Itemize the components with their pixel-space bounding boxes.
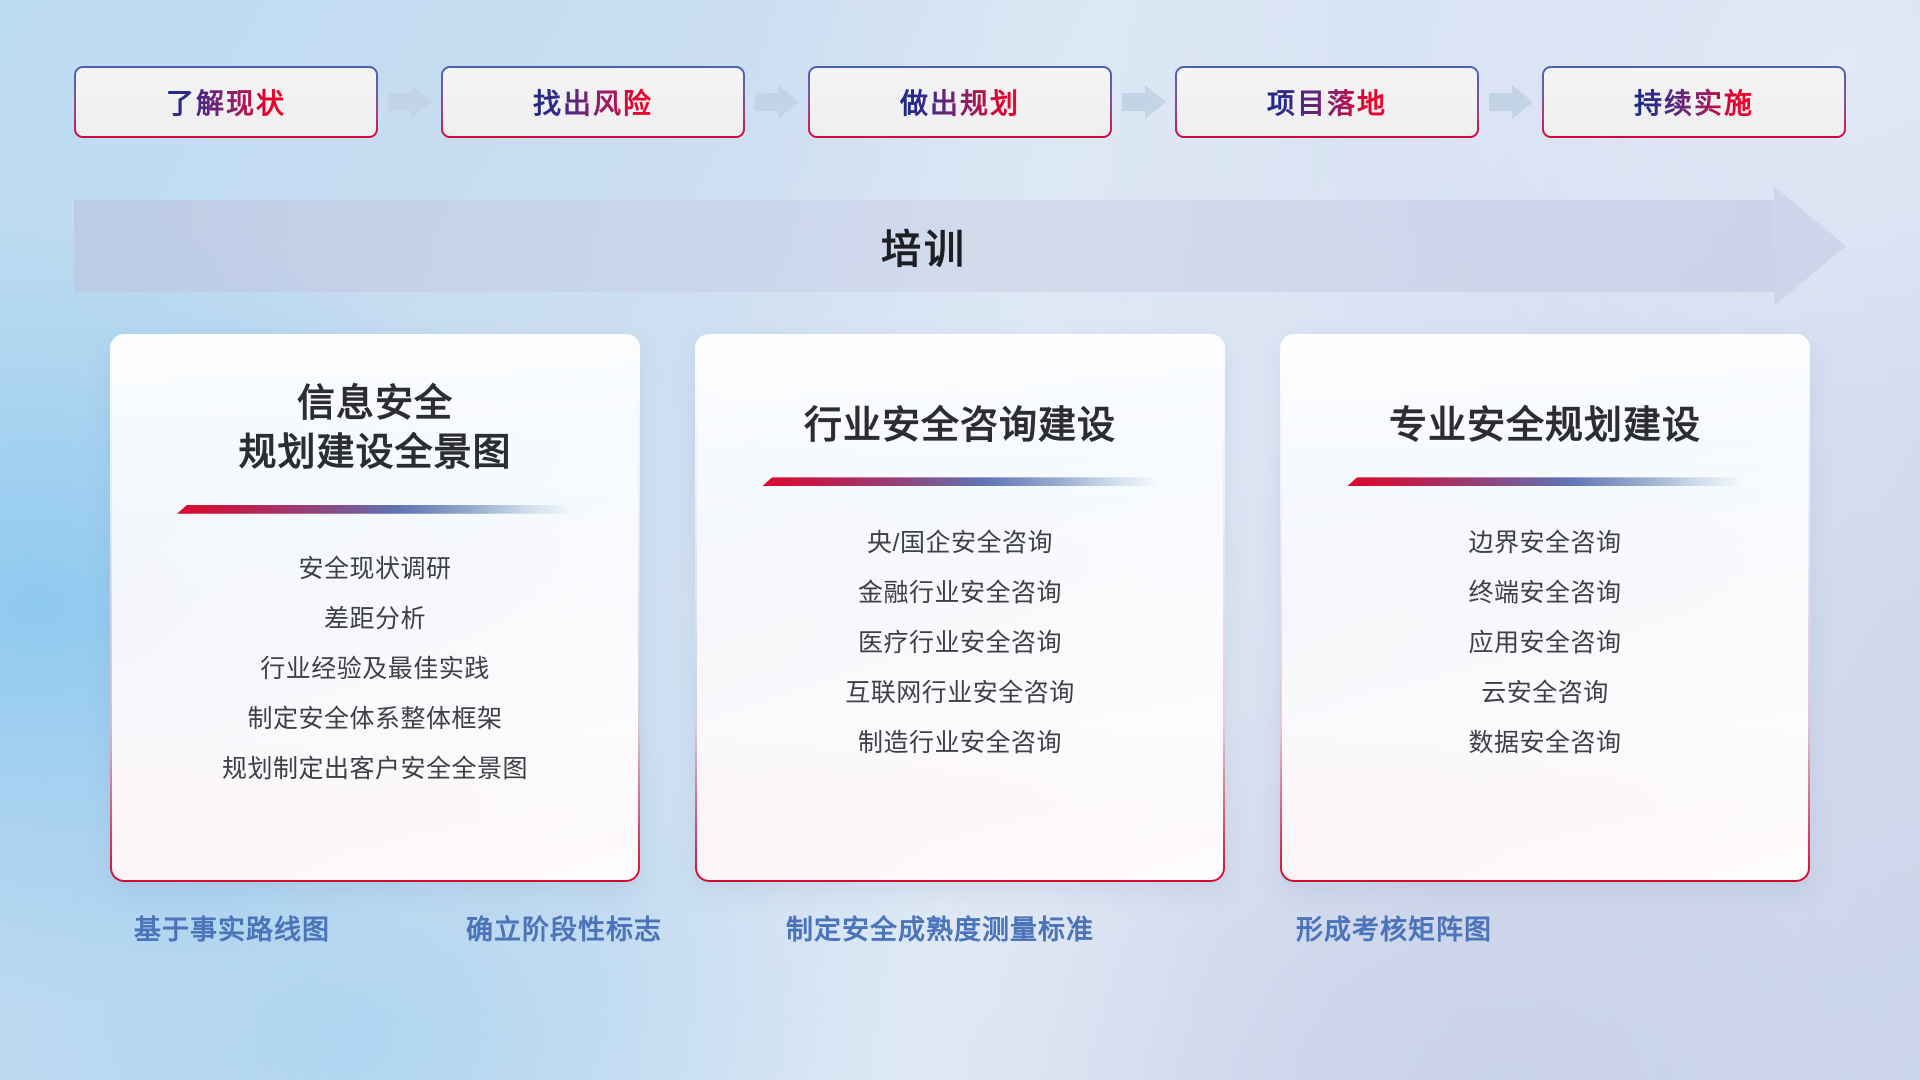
banner-arrow-icon xyxy=(1774,186,1846,306)
process-step-1-label: 了解现状 xyxy=(166,82,286,122)
card-professional-security-planning[interactable]: 专业安全规划建设 边界安全咨询 终端安全咨询 应用安全咨询 云安全咨询 数据安全… xyxy=(1280,334,1810,882)
right-arrow-icon xyxy=(1489,85,1533,119)
list-item: 医疗行业安全咨询 xyxy=(858,618,1062,668)
process-step-4-inner: 项目落地 xyxy=(1177,68,1477,136)
banner-title: 培训 xyxy=(74,200,1774,292)
footer-caption-row: 基于事实路线图 确立阶段性标志 制定安全成熟度测量标准 形成考核矩阵图 xyxy=(0,908,1920,956)
footer-caption-3: 制定安全成熟度测量标准 xyxy=(786,908,1094,947)
process-step-5-label: 持续实施 xyxy=(1634,82,1754,122)
list-item: 终端安全咨询 xyxy=(1468,568,1621,618)
footer-caption-2: 确立阶段性标志 xyxy=(466,908,662,947)
list-item: 金融行业安全咨询 xyxy=(858,568,1062,618)
right-arrow-icon xyxy=(388,85,432,119)
card-title: 专业安全规划建设 xyxy=(1282,402,1808,451)
list-item: 云安全咨询 xyxy=(1481,668,1609,718)
card-inner: 行业安全咨询建设 央/国企安全咨询 金融行业安全咨询 医疗行业安全咨询 互联网行… xyxy=(697,336,1223,880)
card-divider-bar xyxy=(177,505,573,514)
process-step-1-inner: 了解现状 xyxy=(76,68,376,136)
card-list: 边界安全咨询 终端安全咨询 应用安全咨询 云安全咨询 数据安全咨询 xyxy=(1282,518,1808,768)
arrow-head xyxy=(778,85,799,119)
list-item: 制造行业安全咨询 xyxy=(858,718,1062,768)
process-step-3-inner: 做出规划 xyxy=(810,68,1110,136)
card-inner: 信息安全 规划建设全景图 安全现状调研 差距分析 行业经验及最佳实践 制定安全体… xyxy=(112,336,638,880)
training-banner: 培训 xyxy=(74,200,1846,292)
footer-caption-1: 基于事实路线图 xyxy=(134,908,330,947)
footer-caption-4: 形成考核矩阵图 xyxy=(1296,908,1492,947)
process-step-2[interactable]: 找出风险 xyxy=(441,66,745,138)
slide-stage: 了解现状 找出风险 做出规划 项目落地 xyxy=(0,0,1920,1080)
card-title: 信息安全 规划建设全景图 xyxy=(112,380,638,479)
process-step-4[interactable]: 项目落地 xyxy=(1175,66,1479,138)
process-step-4-label: 项目落地 xyxy=(1267,82,1387,122)
arrow-head xyxy=(1512,85,1533,119)
list-item: 数据安全咨询 xyxy=(1468,718,1621,768)
card-divider-bar xyxy=(762,477,1158,486)
list-item: 行业经验及最佳实践 xyxy=(260,644,490,694)
list-item: 安全现状调研 xyxy=(298,544,451,594)
process-step-5-inner: 持续实施 xyxy=(1544,68,1844,136)
card-divider xyxy=(177,505,573,514)
list-item: 互联网行业安全咨询 xyxy=(845,668,1075,718)
card-list: 央/国企安全咨询 金融行业安全咨询 医疗行业安全咨询 互联网行业安全咨询 制造行… xyxy=(697,518,1223,768)
card-info-security-panorama[interactable]: 信息安全 规划建设全景图 安全现状调研 差距分析 行业经验及最佳实践 制定安全体… xyxy=(110,334,640,882)
card-industry-security-consulting[interactable]: 行业安全咨询建设 央/国企安全咨询 金融行业安全咨询 医疗行业安全咨询 互联网行… xyxy=(695,334,1225,882)
list-item: 差距分析 xyxy=(324,594,426,644)
card-row: 信息安全 规划建设全景图 安全现状调研 差距分析 行业经验及最佳实践 制定安全体… xyxy=(110,334,1810,882)
card-inner: 专业安全规划建设 边界安全咨询 终端安全咨询 应用安全咨询 云安全咨询 数据安全… xyxy=(1282,336,1808,880)
process-step-1[interactable]: 了解现状 xyxy=(74,66,378,138)
card-divider xyxy=(1347,477,1743,486)
card-divider xyxy=(762,477,1158,486)
right-arrow-icon xyxy=(755,85,799,119)
list-item: 边界安全咨询 xyxy=(1468,518,1621,568)
card-title: 行业安全咨询建设 xyxy=(697,402,1223,451)
process-step-row: 了解现状 找出风险 做出规划 项目落地 xyxy=(74,66,1846,138)
right-arrow-icon xyxy=(1122,85,1166,119)
arrow-head xyxy=(1145,85,1166,119)
list-item: 规划制定出客户安全全景图 xyxy=(222,744,528,794)
process-step-5[interactable]: 持续实施 xyxy=(1542,66,1846,138)
card-list: 安全现状调研 差距分析 行业经验及最佳实践 制定安全体系整体框架 规划制定出客户… xyxy=(112,544,638,794)
list-item: 应用安全咨询 xyxy=(1468,618,1621,668)
arrow-head xyxy=(411,85,432,119)
process-step-3[interactable]: 做出规划 xyxy=(808,66,1112,138)
card-divider-bar xyxy=(1347,477,1743,486)
process-step-3-label: 做出规划 xyxy=(900,82,1020,122)
process-step-2-inner: 找出风险 xyxy=(443,68,743,136)
process-step-2-label: 找出风险 xyxy=(533,82,653,122)
list-item: 制定安全体系整体框架 xyxy=(247,694,502,744)
list-item: 央/国企安全咨询 xyxy=(867,518,1053,568)
